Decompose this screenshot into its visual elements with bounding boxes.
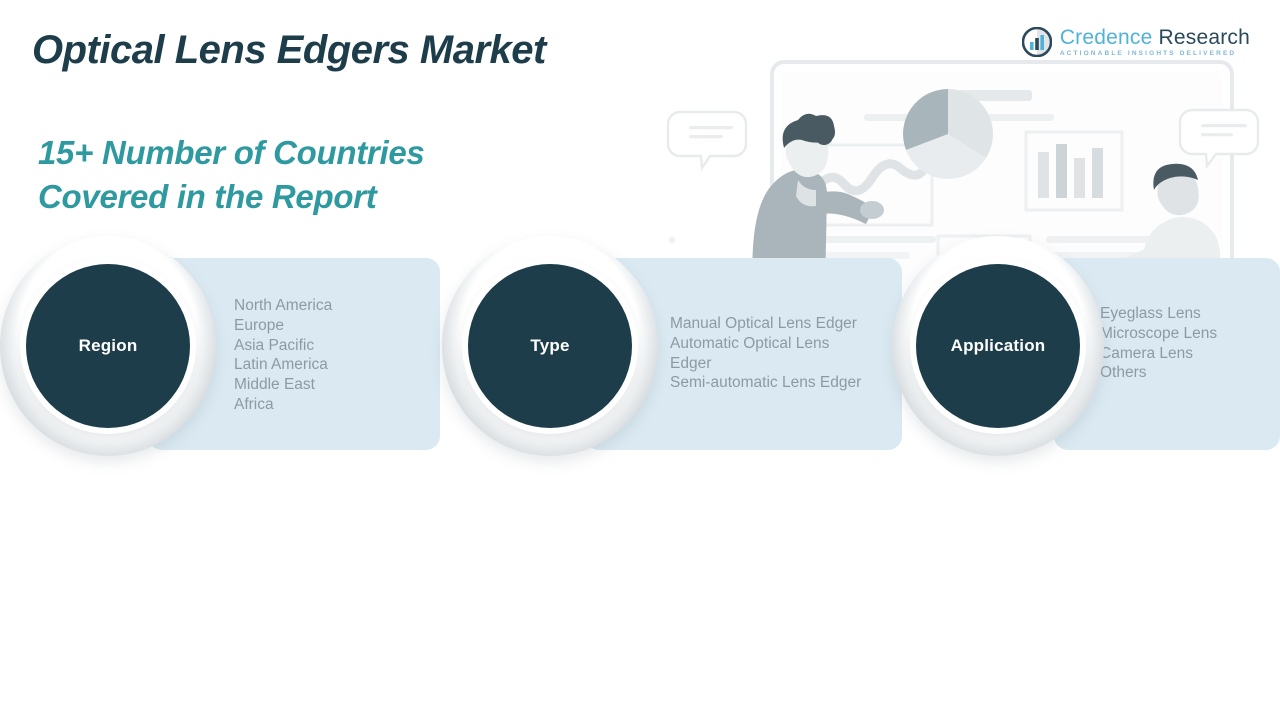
segment-card-type[interactable]: Manual Optical Lens Edger Automatic Opti… xyxy=(440,236,902,456)
circle-core: Region xyxy=(26,264,190,428)
segment-items-region: North America Europe Asia Pacific Latin … xyxy=(234,296,430,415)
segment-circle-application[interactable]: Application xyxy=(892,236,1104,456)
list-item: North America xyxy=(234,296,430,316)
list-item: Semi-automatic Lens Edger xyxy=(670,373,892,393)
segment-label-type: Type xyxy=(530,336,569,356)
circle-core: Type xyxy=(468,264,632,428)
segment-items-type: Manual Optical Lens Edger Automatic Opti… xyxy=(670,314,892,393)
list-item: Europe xyxy=(234,316,430,336)
segment-items-application: Eyeglass Lens Microscope Lens Camera Len… xyxy=(1100,304,1270,383)
list-item: Camera Lens xyxy=(1100,344,1270,364)
list-item: Edger xyxy=(670,354,892,374)
list-item: Microscope Lens xyxy=(1100,324,1270,344)
list-item: Latin America xyxy=(234,355,430,375)
list-item: Middle East xyxy=(234,375,430,395)
page-title: Optical Lens Edgers Market xyxy=(32,28,546,73)
segment-label-region: Region xyxy=(79,336,138,356)
segment-card-application[interactable]: Eyeglass Lens Microscope Lens Camera Len… xyxy=(892,236,1280,456)
list-item: Automatic Optical Lens xyxy=(670,334,892,354)
segment-circle-region[interactable]: Region xyxy=(0,236,216,456)
list-item: Asia Pacific xyxy=(234,336,430,356)
list-item: Manual Optical Lens Edger xyxy=(670,314,892,334)
subtitle-line-1: 15+ Number of Countries xyxy=(38,131,424,175)
list-item: Eyeglass Lens xyxy=(1100,304,1270,324)
segment-label-application: Application xyxy=(951,336,1046,356)
subtitle-line-2: Covered in the Report xyxy=(38,175,424,219)
segment-cards: North America Europe Asia Pacific Latin … xyxy=(0,236,1280,456)
list-item: Others xyxy=(1100,363,1270,383)
slide-canvas: Optical Lens Edgers Market 15+ Number of… xyxy=(0,0,1280,720)
page-subtitle: 15+ Number of Countries Covered in the R… xyxy=(38,131,424,219)
list-item: Africa xyxy=(234,395,430,415)
segment-circle-type[interactable]: Type xyxy=(442,236,658,456)
circle-core: Application xyxy=(916,264,1080,428)
segment-card-region[interactable]: North America Europe Asia Pacific Latin … xyxy=(0,236,440,456)
